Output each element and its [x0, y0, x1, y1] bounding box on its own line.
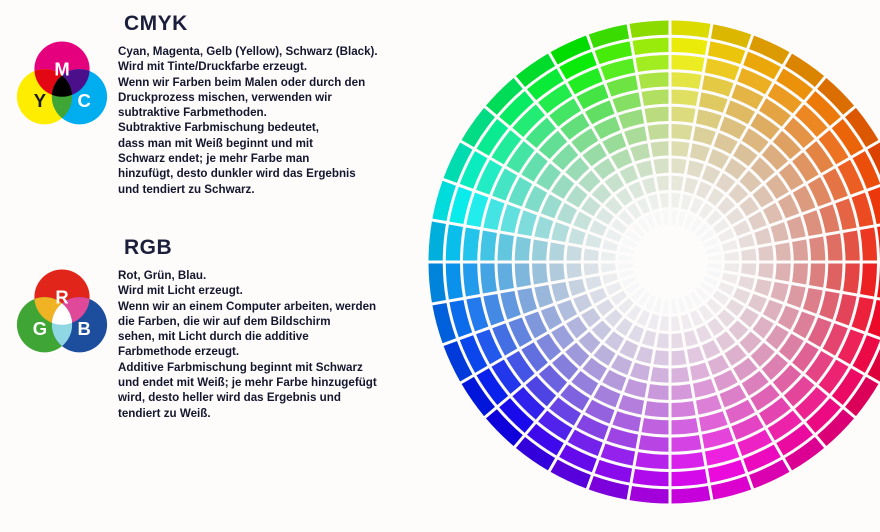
color-wheel-swatch — [826, 264, 842, 291]
green-label: G — [33, 318, 47, 339]
color-wheel-swatch — [567, 246, 582, 261]
cmyk-description: Cyan, Magenta, Gelb (Yellow), Schwarz (B… — [118, 44, 406, 197]
red-label: R — [55, 287, 68, 308]
color-wheel-swatch — [642, 90, 669, 106]
color-wheel-swatch — [480, 264, 497, 294]
color-wheel-swatch — [672, 367, 690, 383]
color-wheel-swatch — [672, 350, 687, 365]
color-wheel-swatch — [498, 234, 514, 261]
color-wheel-swatch — [645, 401, 669, 417]
color-wheel-swatch — [654, 350, 669, 365]
color-wheel-swatch — [651, 141, 669, 157]
blue-label: B — [77, 318, 90, 339]
cmyk-title: CMYK — [124, 12, 188, 36]
color-wheel-swatch — [515, 264, 531, 288]
magenta-label: M — [54, 59, 69, 80]
color-wheel-swatch — [672, 159, 687, 174]
color-wheel-swatch — [498, 264, 514, 291]
rgb-title: RGB — [124, 236, 172, 260]
page-title: Farbmodelle CMYK und RGB mit Farbkreis — [0, 0, 1, 1]
color-wheel-swatch — [775, 243, 791, 261]
color-wheel-swatch — [648, 384, 669, 400]
cmyk-venn-diagram: M Y C — [16, 36, 108, 128]
rgb-venn-diagram: R G B — [16, 264, 108, 356]
color-theory-infographic: M Y C CMYK Cyan, Magenta, Gelb (Yellow),… — [0, 0, 880, 532]
color-wheel-swatch — [532, 240, 548, 261]
color-wheel-swatch — [672, 72, 702, 89]
color-wheel-swatch — [758, 246, 773, 261]
color-wheel-swatch — [480, 231, 497, 261]
yellow-label: Y — [34, 90, 46, 111]
color-wheel-swatch — [809, 264, 825, 288]
color-wheel-swatch — [672, 107, 696, 123]
color-wheel-swatch — [672, 90, 699, 106]
color-wheel-swatch — [843, 231, 860, 261]
color-wheel-swatch — [549, 243, 565, 261]
color-wheel-swatch — [639, 435, 669, 452]
color-wheel-swatch — [826, 234, 842, 261]
color-wheel-center-hole — [634, 226, 706, 298]
color-wheel-swatch — [654, 159, 669, 174]
color-wheel-swatch — [651, 367, 669, 383]
color-wheel-swatch — [549, 264, 565, 282]
color-wheel-swatch — [792, 240, 808, 261]
color-wheel-swatch — [775, 264, 791, 282]
cyan-label: C — [77, 90, 90, 111]
rgb-venn-circles — [17, 270, 107, 353]
color-wheel-swatch — [792, 264, 808, 285]
color-wheel-swatch — [532, 264, 548, 285]
color-wheel-swatch — [672, 435, 702, 452]
color-wheel-swatch — [672, 401, 696, 417]
color-wheel-swatch — [758, 264, 773, 279]
color-wheel-swatch — [515, 237, 531, 261]
color-wheel-swatch — [809, 237, 825, 261]
color-wheel-swatch — [648, 124, 669, 140]
color-wheel-swatch — [672, 418, 699, 434]
color-wheel-swatch — [567, 264, 582, 279]
color-wheel-swatch — [672, 124, 693, 140]
color-wheel — [398, 0, 880, 532]
cmyk-venn-circles — [17, 42, 107, 125]
color-wheel-swatch — [639, 72, 669, 89]
color-wheel-swatch — [672, 384, 693, 400]
color-wheel-svg — [398, 0, 880, 532]
rgb-description: Rot, Grün, Blau. Wird mit Licht erzeugt.… — [118, 268, 406, 421]
color-wheel-swatch — [645, 107, 669, 123]
color-wheel-swatch — [642, 418, 669, 434]
color-wheel-swatch — [843, 264, 860, 294]
color-wheel-swatch — [672, 141, 690, 157]
